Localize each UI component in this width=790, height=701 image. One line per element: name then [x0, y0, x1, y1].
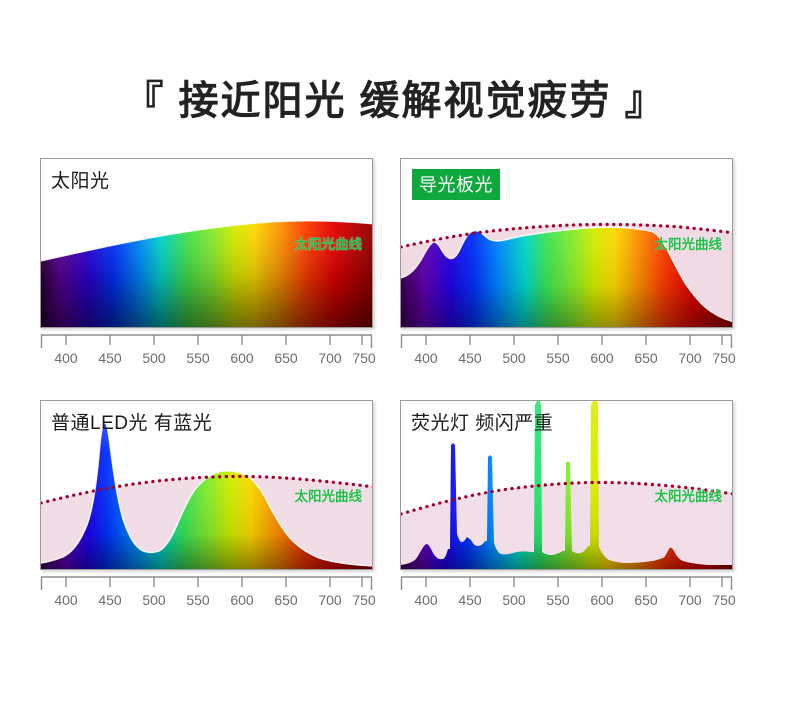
tick-label: 400 — [54, 592, 77, 608]
tick-label: 400 — [414, 350, 437, 366]
axis-ordinary-led: 400 450 500 550 600 650 700 750 — [40, 576, 373, 618]
tick-label: 750 — [712, 350, 735, 366]
panel-sunlight: 太阳光 太阳光曲线 — [40, 158, 375, 376]
tick-label: 700 — [678, 592, 701, 608]
panel-title-sunlight: 太阳光 — [51, 166, 110, 193]
tick-label: 600 — [590, 350, 613, 366]
page-title: 『 接近阳光 缓解视觉疲劳 』 — [0, 68, 790, 126]
plot-ordinary-led: 普通LED光 有蓝光 太阳光曲线 — [40, 400, 373, 570]
tick-label: 550 — [186, 350, 209, 366]
tick-label: 450 — [98, 350, 121, 366]
tick-labels-ordinary-led: 400 450 500 550 600 650 700 750 — [40, 592, 373, 614]
tick-label: 450 — [98, 592, 121, 608]
tick-label: 550 — [546, 592, 569, 608]
axis-sunlight: 400 450 500 550 600 650 700 750 — [40, 334, 373, 376]
legend-sun-curve: 太阳光曲线 — [655, 485, 723, 505]
tick-labels-fluorescent-lamp: 400 450 500 550 600 650 700 750 — [400, 592, 733, 614]
tick-label: 400 — [54, 350, 77, 366]
tick-label: 650 — [634, 350, 657, 366]
tick-label: 500 — [142, 592, 165, 608]
plot-sunlight: 太阳光 太阳光曲线 — [40, 158, 373, 328]
tick-label: 550 — [546, 350, 569, 366]
panel-title-fluorescent-lamp: 荧光灯 频闪严重 — [411, 408, 553, 435]
spectrum-panel-grid: 太阳光 太阳光曲线 — [40, 158, 750, 608]
tick-label: 500 — [142, 350, 165, 366]
tick-label: 600 — [590, 592, 613, 608]
tick-label: 500 — [502, 592, 525, 608]
tick-label: 750 — [352, 592, 375, 608]
tick-label: 700 — [318, 592, 341, 608]
panel-ordinary-led: 普通LED光 有蓝光 太阳光曲线 — [40, 400, 375, 618]
tick-label: 750 — [712, 592, 735, 608]
tick-label: 500 — [502, 350, 525, 366]
axis-fluorescent-lamp: 400 450 500 550 600 650 700 750 — [400, 576, 733, 618]
tick-label: 600 — [230, 350, 253, 366]
tick-label: 600 — [230, 592, 253, 608]
tick-label: 700 — [678, 350, 701, 366]
panel-fluorescent-lamp: 荧光灯 频闪严重 太阳光曲线 — [400, 400, 735, 618]
panel-title-light-guide-plate: 导光板光 — [412, 169, 500, 200]
legend-sun-curve: 太阳光曲线 — [295, 233, 363, 253]
legend-sun-curve: 太阳光曲线 — [295, 485, 363, 505]
tick-label: 650 — [274, 592, 297, 608]
tick-label: 400 — [414, 592, 437, 608]
axis-light-guide-plate: 400 450 500 550 600 650 700 750 — [400, 334, 733, 376]
tick-label: 550 — [186, 592, 209, 608]
tick-labels-sunlight: 400 450 500 550 600 650 700 750 — [40, 350, 373, 372]
tick-label: 650 — [634, 592, 657, 608]
plot-light-guide-plate: 导光板光 太阳光曲线 — [400, 158, 733, 328]
tick-label: 750 — [352, 350, 375, 366]
tick-label: 450 — [458, 350, 481, 366]
panel-light-guide-plate: 导光板光 太阳光曲线 — [400, 158, 735, 376]
tick-label: 700 — [318, 350, 341, 366]
plot-fluorescent-lamp: 荧光灯 频闪严重 太阳光曲线 — [400, 400, 733, 570]
panel-title-ordinary-led: 普通LED光 有蓝光 — [51, 408, 212, 435]
legend-sun-curve: 太阳光曲线 — [655, 233, 723, 253]
tick-label: 650 — [274, 350, 297, 366]
tick-label: 450 — [458, 592, 481, 608]
tick-labels-light-guide-plate: 400 450 500 550 600 650 700 750 — [400, 350, 733, 372]
